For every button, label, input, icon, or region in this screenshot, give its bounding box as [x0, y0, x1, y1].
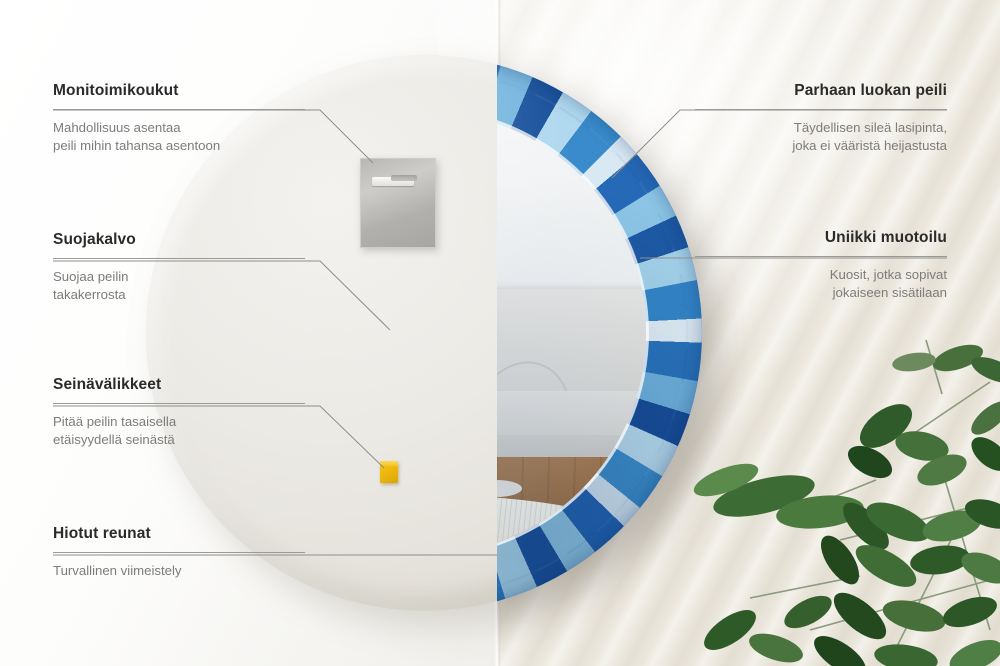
wall-spacer [380, 461, 398, 483]
callout-body-line1: Pitää peilin tasaisella [53, 414, 176, 429]
hook-slot-secondary-icon [391, 175, 417, 181]
callout-hiotut-reunat: Hiotut reunat Turvallinen viimeistely [53, 525, 305, 580]
callout-title: Hiotut reunat [53, 525, 305, 543]
callout-body-line1: Täydellisen sileä lasipinta, [794, 120, 947, 135]
callout-title: Uniikki muotoilu [695, 229, 947, 247]
callout-body-line2: jokaiseen sisätilaan [833, 285, 947, 300]
callout-rule [53, 109, 305, 110]
callout-title: Seinävälikkeet [53, 376, 305, 394]
callout-body: Pitää peilin tasaisella etäisyydellä sei… [53, 413, 305, 449]
callout-body-line2: joka ei vääristä heijastusta [792, 138, 947, 153]
callout-rule [695, 256, 947, 257]
glass-reflection-haze [497, 111, 646, 555]
callout-title: Monitoimikoukut [53, 82, 305, 100]
callout-parhaan-luokan-peili: Parhaan luokan peili Täydellisen sileä l… [695, 82, 947, 155]
callout-body-line1: Mahdollisuus asentaa [53, 120, 181, 135]
foliage-decoration [690, 330, 1000, 666]
callout-body: Täydellisen sileä lasipinta, joka ei vää… [695, 119, 947, 155]
callout-body: Turvallinen viimeistely [53, 562, 305, 580]
callout-suojakalvo: Suojakalvo Suojaa peilin takakerrosta [53, 231, 305, 304]
callout-body: Kuosit, jotka sopivat jokaiseen sisätila… [695, 266, 947, 302]
callout-body-line1: Suojaa peilin [53, 269, 129, 284]
callout-rule [53, 258, 305, 259]
mirror-glass [497, 111, 646, 555]
callout-rule [53, 552, 305, 553]
callout-body-line2: etäisyydellä seinästä [53, 432, 175, 447]
callout-title: Suojakalvo [53, 231, 305, 249]
wall-spacer-top [380, 461, 398, 466]
callout-body-line2: takakerrosta [53, 287, 126, 302]
foliage-icon [690, 330, 1000, 666]
callout-body-line1: Turvallinen viimeistely [53, 563, 182, 578]
callout-monitoimikoukut: Monitoimikoukut Mahdollisuus asentaa pei… [53, 82, 305, 155]
callout-uniikki-muotoilu: Uniikki muotoilu Kuosit, jotka sopivat j… [695, 229, 947, 302]
hook-plate [360, 158, 436, 248]
callout-title: Parhaan luokan peili [695, 82, 947, 100]
callout-body-line2: peili mihin tahansa asentoon [53, 138, 220, 153]
callout-body-line1: Kuosit, jotka sopivat [830, 267, 947, 282]
callout-rule [695, 109, 947, 110]
infographic-stage: Monitoimikoukut Mahdollisuus asentaa pei… [0, 0, 1000, 666]
mirror-product [497, 55, 702, 611]
callout-body: Suojaa peilin takakerrosta [53, 268, 305, 304]
callout-body: Mahdollisuus asentaa peili mihin tahansa… [53, 119, 305, 155]
callout-seinavalikkeet: Seinävälikkeet Pitää peilin tasaisella e… [53, 376, 305, 449]
callout-rule [53, 403, 305, 404]
